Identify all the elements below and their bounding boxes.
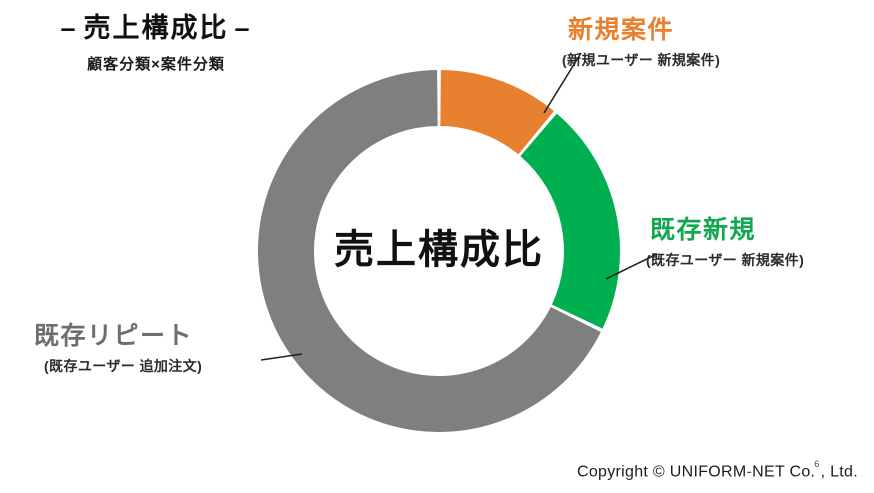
copyright-suffix: , Ltd. (821, 463, 858, 480)
copyright-mid: NET Co. (752, 463, 815, 480)
callout-repeat: 既存リピート (既存ユーザー 追加注文) (34, 322, 202, 376)
callout-existing-new: 既存新規 (既存ユーザー 新規案件) (650, 216, 804, 270)
slide-canvas: –売上構成比– 顧客分類×案件分類 売上構成比 新規案件 (新規ユーザー 新規案… (0, 0, 874, 493)
copyright-superscript: 6 (814, 459, 819, 469)
callout-existing-new-headline: 既存新規 (650, 216, 804, 245)
callout-new: 新規案件 (新規ユーザー 新規案件) (568, 16, 720, 70)
callout-new-headline: 新規案件 (568, 16, 720, 45)
copyright-footer: Copyright © UNIFORM-NET Co.6, Ltd. (577, 462, 858, 481)
donut-center-label: 売上構成比 (334, 217, 544, 275)
copyright-prefix: Copyright © UNIFORM (577, 463, 747, 480)
callout-repeat-detail: (既存ユーザー 追加注文) (44, 356, 202, 376)
callout-repeat-headline: 既存リピート (34, 322, 202, 351)
callout-new-detail: (新規ユーザー 新規案件) (562, 50, 720, 70)
callout-existing-new-detail: (既存ユーザー 新規案件) (646, 250, 804, 270)
